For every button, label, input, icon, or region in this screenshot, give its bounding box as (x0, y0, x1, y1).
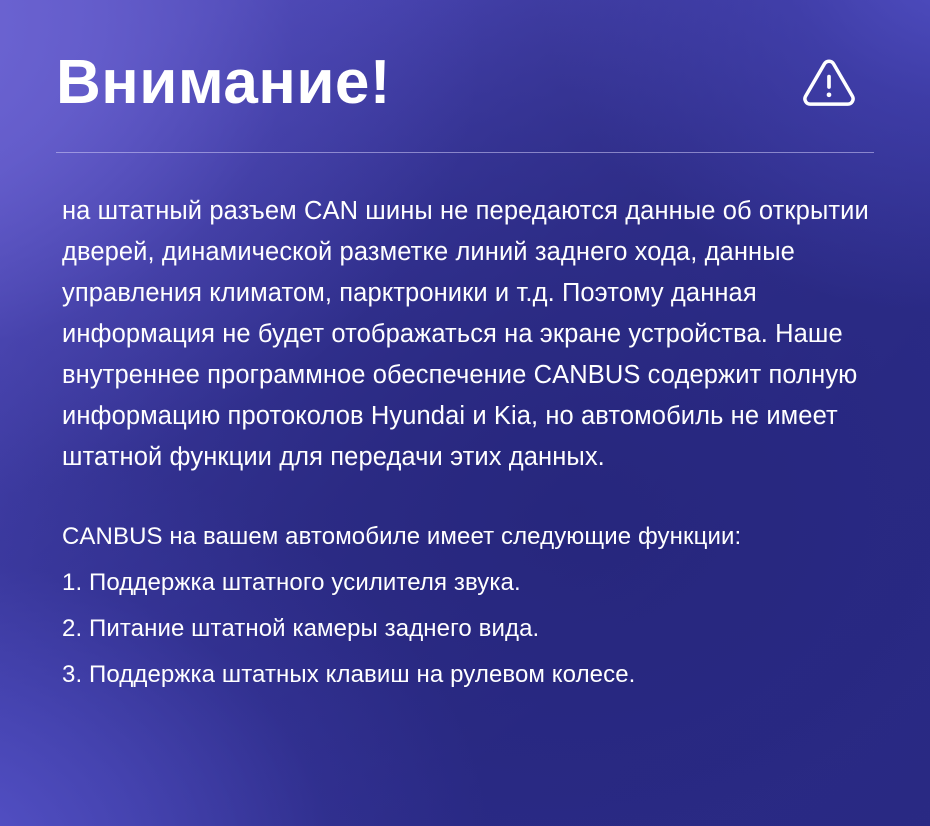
warning-triangle-icon (798, 52, 860, 114)
banner-content: Внимание! на штатный разъем CAN шины не … (0, 0, 930, 695)
list-item: 1. Поддержка штатного усилителя звука. (62, 562, 878, 603)
warning-banner: Внимание! на штатный разъем CAN шины не … (0, 0, 930, 826)
page-title: Внимание! (56, 52, 391, 114)
banner-body: на штатный разъем CAN шины не передаются… (0, 153, 930, 695)
banner-header: Внимание! (0, 0, 930, 114)
feature-intro-text: CANBUS на вашем автомобиле имеет следующ… (62, 516, 878, 557)
feature-block: CANBUS на вашем автомобиле имеет следующ… (62, 516, 878, 695)
list-item: 3. Поддержка штатных клавиш на рулевом к… (62, 654, 878, 695)
list-item: 2. Питание штатной камеры заднего вида. (62, 608, 878, 649)
feature-list: 1. Поддержка штатного усилителя звука. 2… (62, 562, 878, 695)
notice-paragraph: на штатный разъем CAN шины не передаются… (62, 191, 878, 478)
